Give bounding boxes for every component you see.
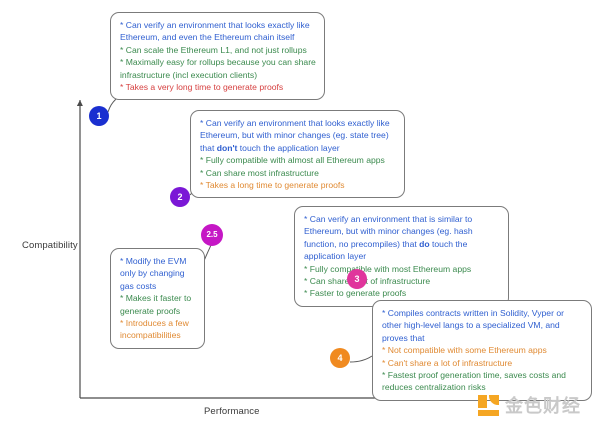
marker-2[interactable]: 2: [170, 187, 190, 207]
callout-line: * Makes it faster to generate proofs: [120, 292, 196, 317]
callout-line: * Fully compatible with most Ethereum ap…: [304, 263, 500, 275]
callout-line: * Can verify an environment that looks e…: [120, 19, 316, 44]
callout-line: * Not compatible with some Ethereum apps: [382, 344, 583, 356]
callout-line: * Can share most infrastructure: [200, 167, 396, 179]
callout-line: * Can't share a lot of infrastructure: [382, 357, 583, 369]
callout-type-2-5: * Modify the EVM only by changing gas co…: [110, 248, 205, 349]
y-axis-label: Compatibility: [22, 240, 78, 251]
connector-4: [350, 356, 372, 362]
marker-3[interactable]: 3: [347, 269, 367, 289]
callout-line: * Can share a lot of infrastructure: [304, 275, 500, 287]
callout-line: * Takes a long time to generate proofs: [200, 179, 396, 191]
callout-line: * Fully compatible with almost all Ether…: [200, 154, 396, 166]
callout-line-tail: touch the application layer: [237, 143, 339, 153]
callout-type-2: * Can verify an environment that looks e…: [190, 110, 405, 198]
watermark-text: 金色财经: [505, 392, 581, 418]
x-axis-label: Performance: [204, 406, 259, 417]
callout-line-tail: touch the application layer: [304, 239, 467, 261]
callout-line: * Fastest proof generation time, saves c…: [382, 369, 583, 394]
callout-type-3: * Can verify an environment that is simi…: [294, 206, 509, 307]
logo-icon: [478, 395, 499, 416]
emphasis-text: do: [419, 239, 430, 249]
callout-line: * Modify the EVM only by changing gas co…: [120, 255, 196, 292]
marker-4[interactable]: 4: [330, 348, 350, 368]
callout-line: * Can verify an environment that is simi…: [304, 213, 500, 263]
callout-line: * Faster to generate proofs: [304, 287, 500, 299]
callout-line: * Can verify an environment that looks e…: [200, 117, 396, 154]
callout-type-4: * Compiles contracts written in Solidity…: [372, 300, 592, 401]
connector-1: [108, 99, 116, 112]
callout-line: * Compiles contracts written in Solidity…: [382, 307, 583, 344]
callout-line: * Takes a very long time to generate pro…: [120, 81, 316, 93]
marker-2-5[interactable]: 2.5: [201, 224, 223, 246]
callout-line: * Introduces a few incompatibilities: [120, 317, 196, 342]
callout-line: * Maximally easy for rollups because you…: [120, 56, 316, 81]
callout-line: * Can scale the Ethereum L1, and not jus…: [120, 44, 316, 56]
emphasis-text: don't: [217, 143, 238, 153]
diagram-canvas: Compatibility Performance * Can verify a…: [0, 0, 600, 424]
watermark: 金色财经: [478, 392, 581, 418]
marker-1[interactable]: 1: [89, 106, 109, 126]
callout-type-1: * Can verify an environment that looks e…: [110, 12, 325, 100]
